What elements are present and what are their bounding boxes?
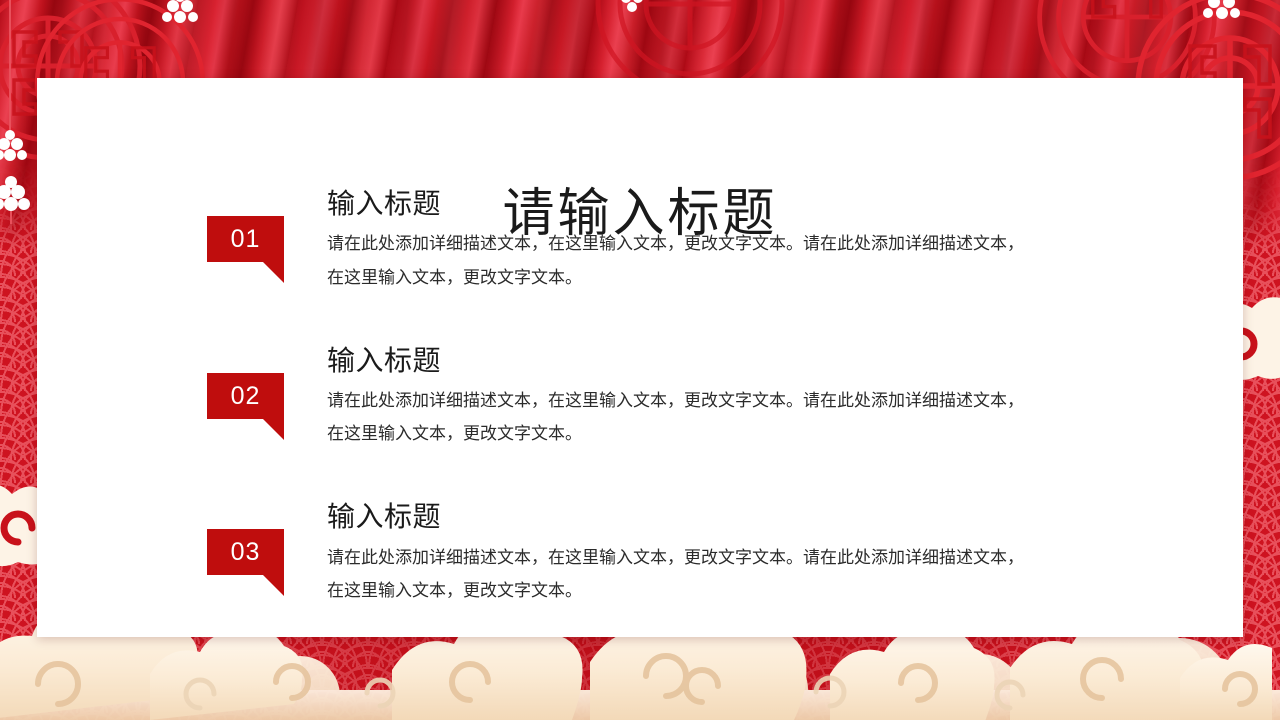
list-item[interactable]: 01 输入标题 请在此处添加详细描述文本，在这里输入文本，更改文字文本。请在此处…: [207, 188, 1185, 294]
section-text: 输入标题 请在此处添加详细描述文本，在这里输入文本，更改文字文本。请在此处添加详…: [327, 345, 1185, 451]
section-heading: 输入标题: [327, 345, 1185, 376]
hanging-tassel-icon: [614, 0, 654, 30]
hanging-tassel-icon: [1200, 0, 1248, 42]
section-body: 请在此处添加详细描述文本，在这里输入文本，更改文字文本。请在此处添加详细描述文本…: [327, 384, 1027, 450]
section-heading: 输入标题: [327, 188, 1185, 219]
slide-root: 请输入标题 01 输入标题 请在此处添加详细描述文本，在这里输入文本，更改文字文…: [0, 0, 1280, 720]
hanging-tassel-icon: [160, 0, 204, 44]
section-list: 01 输入标题 请在此处添加详细描述文本，在这里输入文本，更改文字文本。请在此处…: [207, 188, 1185, 607]
section-number-badge: 01: [207, 216, 284, 262]
section-number-badge: 03: [207, 529, 284, 575]
content-card: 请输入标题 01 输入标题 请在此处添加详细描述文本，在这里输入文本，更改文字文…: [37, 78, 1243, 637]
section-text: 输入标题 请在此处添加详细描述文本，在这里输入文本，更改文字文本。请在此处添加详…: [327, 501, 1185, 607]
list-item[interactable]: 03 输入标题 请在此处添加详细描述文本，在这里输入文本，更改文字文本。请在此处…: [207, 501, 1185, 607]
section-text: 输入标题 请在此处添加详细描述文本，在这里输入文本，更改文字文本。请在此处添加详…: [327, 188, 1185, 294]
section-body: 请在此处添加详细描述文本，在这里输入文本，更改文字文本。请在此处添加详细描述文本…: [327, 541, 1027, 607]
section-heading: 输入标题: [327, 501, 1185, 532]
section-body: 请在此处添加详细描述文本，在这里输入文本，更改文字文本。请在此处添加详细描述文本…: [327, 227, 1027, 293]
hanging-tassel-icon: [0, 0, 40, 224]
list-item[interactable]: 02 输入标题 请在此处添加详细描述文本，在这里输入文本，更改文字文本。请在此处…: [207, 345, 1185, 451]
section-number-badge: 02: [207, 373, 284, 419]
